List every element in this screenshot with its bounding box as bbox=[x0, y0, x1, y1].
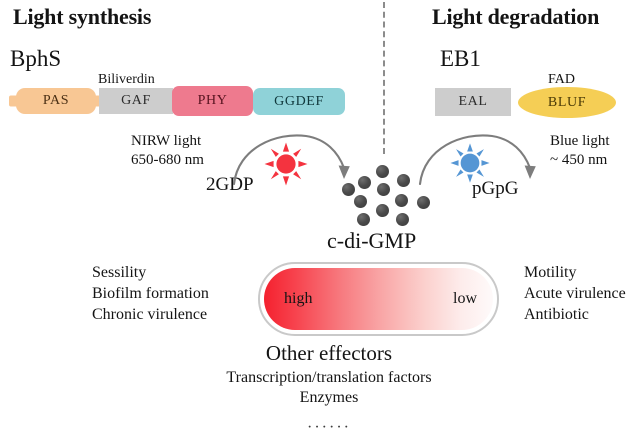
right-light-wavelength: ~ 450 nm bbox=[550, 152, 607, 169]
left-light-wavelength: 650-680 nm bbox=[131, 152, 204, 169]
c-di-gmp-level-gradient: high low bbox=[264, 268, 493, 330]
domain-gaf[interactable]: GAF bbox=[99, 88, 173, 114]
effectors-ellipsis: ······ bbox=[14, 419, 644, 437]
effectors-line: Enzymes bbox=[14, 389, 644, 407]
domain-eal[interactable]: EAL bbox=[435, 88, 511, 116]
c-di-gmp-dot bbox=[354, 195, 367, 208]
phenotype-item: Motility bbox=[524, 262, 626, 283]
c-di-gmp-dot bbox=[395, 194, 408, 207]
red-sun-icon bbox=[264, 142, 308, 186]
c-di-gmp-level-bar: high low bbox=[258, 262, 499, 336]
fad-label: FAD bbox=[548, 72, 575, 88]
c-di-gmp-dot bbox=[342, 183, 355, 196]
level-label-low: low bbox=[453, 290, 477, 308]
effectors-title: Other effectors bbox=[14, 341, 644, 366]
phenotype-item: Acute virulence bbox=[524, 283, 626, 304]
effectors-line: Transcription/translation factors bbox=[14, 369, 644, 387]
c-di-gmp-dot bbox=[417, 196, 430, 209]
c-di-gmp-dot bbox=[397, 174, 410, 187]
c-di-gmp-dot bbox=[376, 165, 389, 178]
left-light-name: NIRW light bbox=[131, 133, 201, 150]
c-di-gmp-label: c-di-GMP bbox=[327, 228, 416, 254]
phenotype-item: Biofilm formation bbox=[92, 283, 209, 304]
low-phenotype-list: Motility Acute virulence Antibiotic bbox=[524, 262, 626, 325]
biliverdin-label: Biliverdin bbox=[98, 72, 155, 88]
phenotype-item: Antibiotic bbox=[524, 304, 626, 325]
domain-phy[interactable]: PHY bbox=[172, 86, 253, 116]
right-panel-title: Light degradation bbox=[432, 4, 599, 30]
left-protein-name: BphS bbox=[10, 46, 61, 72]
c-di-gmp-dot bbox=[358, 176, 371, 189]
high-phenotype-list: Sessility Biofilm formation Chronic viru… bbox=[92, 262, 209, 325]
phenotype-item: Chronic virulence bbox=[92, 304, 209, 325]
left-panel-title: Light synthesis bbox=[13, 4, 151, 30]
c-di-gmp-dot bbox=[376, 204, 389, 217]
panel-divider bbox=[383, 2, 385, 154]
c-di-gmp-dot bbox=[396, 213, 409, 226]
right-light-name: Blue light bbox=[550, 133, 610, 150]
c-di-gmp-dot bbox=[377, 183, 390, 196]
diagram-canvas: Light synthesis BphS Biliverdin PAS GAF … bbox=[0, 0, 644, 433]
domain-ggdef[interactable]: GGDEF bbox=[253, 88, 345, 115]
domain-pas[interactable]: PAS bbox=[16, 88, 96, 114]
c-di-gmp-dot bbox=[357, 213, 370, 226]
domain-bluf[interactable]: BLUF bbox=[518, 87, 616, 118]
level-label-high: high bbox=[284, 290, 312, 308]
phenotype-item: Sessility bbox=[92, 262, 209, 283]
c-di-gmp-cluster bbox=[340, 165, 462, 227]
right-protein-name: EB1 bbox=[440, 46, 481, 72]
effectors-block: Other effectors Transcription/translatio… bbox=[0, 341, 644, 437]
